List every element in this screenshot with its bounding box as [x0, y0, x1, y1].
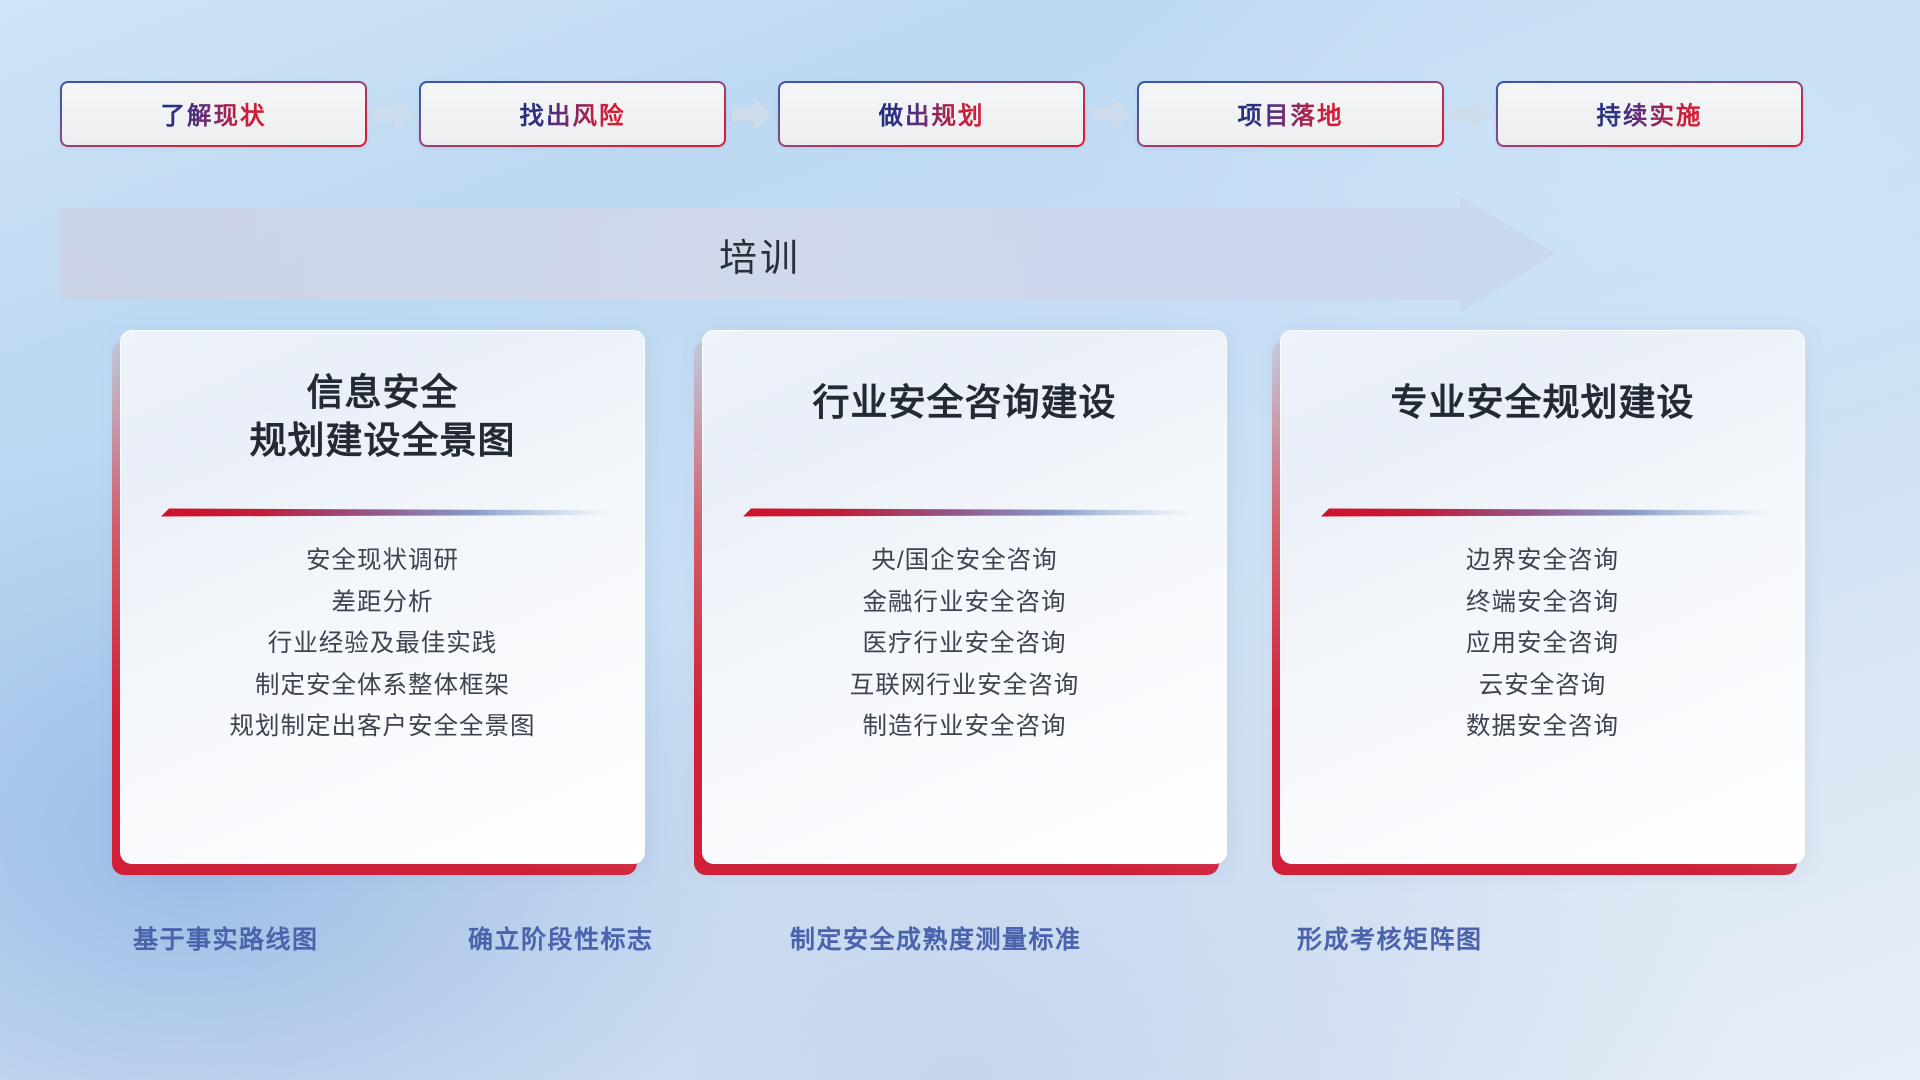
card-1[interactable]: 行业安全咨询建设 — [694, 330, 1227, 875]
list-item: 云安全咨询 — [1281, 674, 1804, 699]
list-item: 安全现状调研 — [121, 549, 644, 574]
card-title-0-line2: 规划建设全景图 — [121, 417, 644, 465]
list-item: 制定安全体系整体框架 — [121, 674, 644, 699]
card-title-1-line1: 行业安全咨询建设 — [703, 379, 1226, 427]
gradient-divider-icon — [157, 507, 609, 519]
card-panel-1: 行业安全咨询建设 — [702, 330, 1227, 864]
caption-2: 制定安全成熟度测量标准 — [790, 920, 1082, 956]
list-item: 数据安全咨询 — [1281, 715, 1804, 740]
caption-3: 形成考核矩阵图 — [1297, 920, 1483, 956]
list-item: 央/国企安全咨询 — [703, 549, 1226, 574]
list-item: 差距分析 — [121, 591, 644, 616]
card-title-0-line1: 信息安全 — [121, 369, 644, 417]
card-title-2-line1: 专业安全规划建设 — [1281, 379, 1804, 427]
card-title-2: 专业安全规划建设 — [1281, 379, 1804, 427]
list-item: 应用安全咨询 — [1281, 632, 1804, 657]
card-2[interactable]: 专业安全规划建设 — [1272, 330, 1805, 875]
cards-container: 信息安全 规划建设全景图 — [0, 0, 1920, 1080]
caption-1: 确立阶段性标志 — [468, 920, 654, 956]
list-item: 行业经验及最佳实践 — [121, 632, 644, 657]
list-item: 金融行业安全咨询 — [703, 591, 1226, 616]
card-list-2: 边界安全咨询 终端安全咨询 应用安全咨询 云安全咨询 数据安全咨询 — [1281, 549, 1804, 740]
list-item: 终端安全咨询 — [1281, 591, 1804, 616]
caption-0: 基于事实路线图 — [133, 920, 319, 956]
gradient-divider-icon — [739, 507, 1191, 519]
list-item: 规划制定出客户安全全景图 — [121, 715, 644, 740]
list-item: 互联网行业安全咨询 — [703, 674, 1226, 699]
list-item: 边界安全咨询 — [1281, 549, 1804, 574]
card-list-1: 央/国企安全咨询 金融行业安全咨询 医疗行业安全咨询 互联网行业安全咨询 制造行… — [703, 549, 1226, 740]
card-panel-2: 专业安全规划建设 — [1280, 330, 1805, 864]
slide-canvas: 了解现状 找出风险 做出规划 — [0, 0, 1920, 1080]
card-panel-0: 信息安全 规划建设全景图 — [120, 330, 645, 864]
card-title-1: 行业安全咨询建设 — [703, 379, 1226, 427]
list-item: 医疗行业安全咨询 — [703, 632, 1226, 657]
gradient-divider-icon — [1317, 507, 1769, 519]
card-list-0: 安全现状调研 差距分析 行业经验及最佳实践 制定安全体系整体框架 规划制定出客户… — [121, 549, 644, 740]
card-0[interactable]: 信息安全 规划建设全景图 — [112, 330, 645, 875]
card-title-0: 信息安全 规划建设全景图 — [121, 369, 644, 465]
list-item: 制造行业安全咨询 — [703, 715, 1226, 740]
